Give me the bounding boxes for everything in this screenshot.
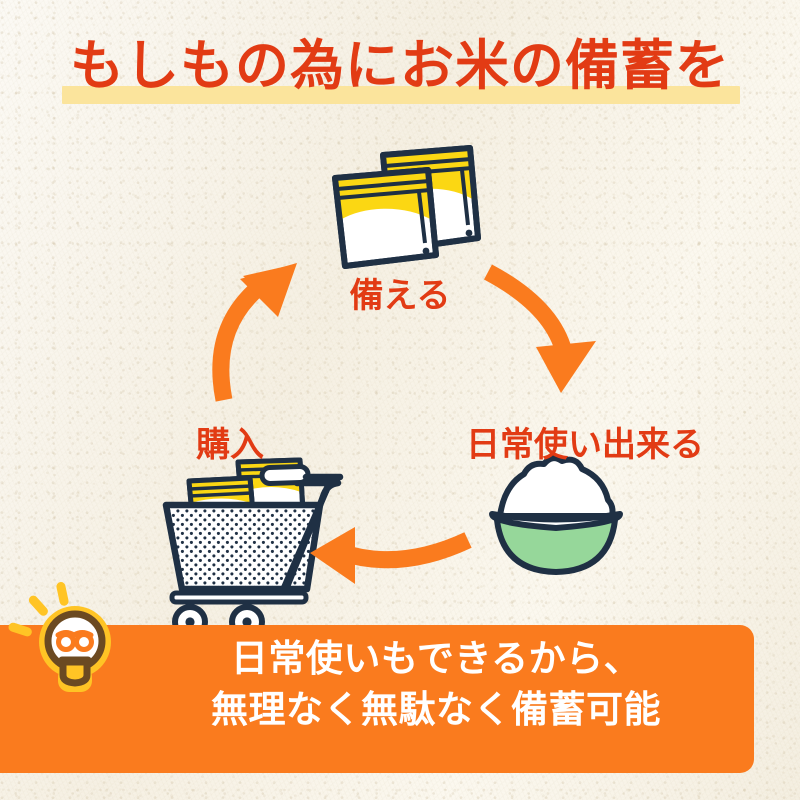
poster-canvas: もしもの為にお米の備蓄を [0,0,800,800]
rice-bowl-icon [492,458,620,572]
banner-line-1: 日常使いもできるから、 [118,633,754,684]
cycle-label-purchase: 購入 [100,417,360,466]
rice-pouch-front [335,170,436,266]
rice-pouch-pair-icon [335,148,478,266]
banner-line-2: 無理なく無駄なく備蓄可能 [118,684,754,735]
banner-text: 日常使いもできるから、 無理なく無駄なく備蓄可能 [118,633,754,735]
lightbulb-bulb [48,614,102,683]
lightbulb-icon [8,580,138,710]
curved-arrow-left-icon [310,527,468,584]
shopping-cart-icon [166,460,340,637]
cycle-label-prepare: 備える [0,268,800,317]
cycle-label-daily-use: 日常使い出来る [420,417,750,466]
